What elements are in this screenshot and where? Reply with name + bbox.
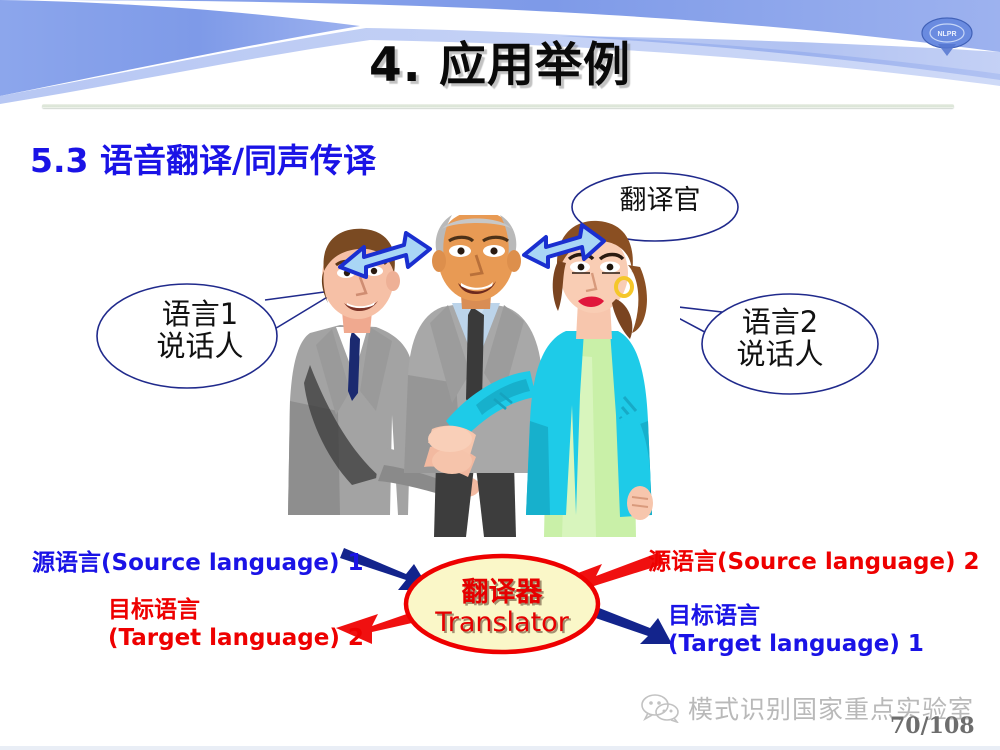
translator-label-en: Translator <box>408 608 596 638</box>
target-language-2-line1: 目标语言 <box>108 596 364 624</box>
target-language-2-line2: (Target language) 2 <box>108 624 364 652</box>
left-speaker-bubble-text: 语言1 说话人 <box>95 298 305 363</box>
target-language-1-line2: (Target language) 1 <box>668 630 924 658</box>
translator-label: 翻译器 Translator <box>408 578 596 638</box>
title-divider <box>42 104 954 108</box>
left-speaker-bubble: 语言1 说话人 <box>95 278 305 396</box>
three-people-illustration <box>280 215 720 540</box>
translator-label-cn: 翻译器 <box>408 578 596 608</box>
wechat-icon <box>640 693 680 723</box>
source-language-1-label: 源语言(Source language) 1 <box>32 543 364 577</box>
target-language-1-label: 目标语言 (Target language) 1 <box>668 602 924 658</box>
page-title: 4. 应用举例 <box>0 26 1000 95</box>
target-language-1-line1: 目标语言 <box>668 602 924 630</box>
source-language-2-label: 源语言(Source language) 2 <box>648 542 980 576</box>
target-language-2-label: 目标语言 (Target language) 2 <box>108 596 364 652</box>
slide-canvas: NLPR 4. 应用举例 5.3 语音翻译/同声传译 翻译官 语言1 说话人 语… <box>0 0 1000 750</box>
bottom-strip <box>0 746 1000 750</box>
interpreter-bubble-text: 翻译官 <box>560 186 760 216</box>
page-number: 70/108 <box>890 713 975 739</box>
section-heading: 5.3 语音翻译/同声传译 <box>30 134 376 182</box>
